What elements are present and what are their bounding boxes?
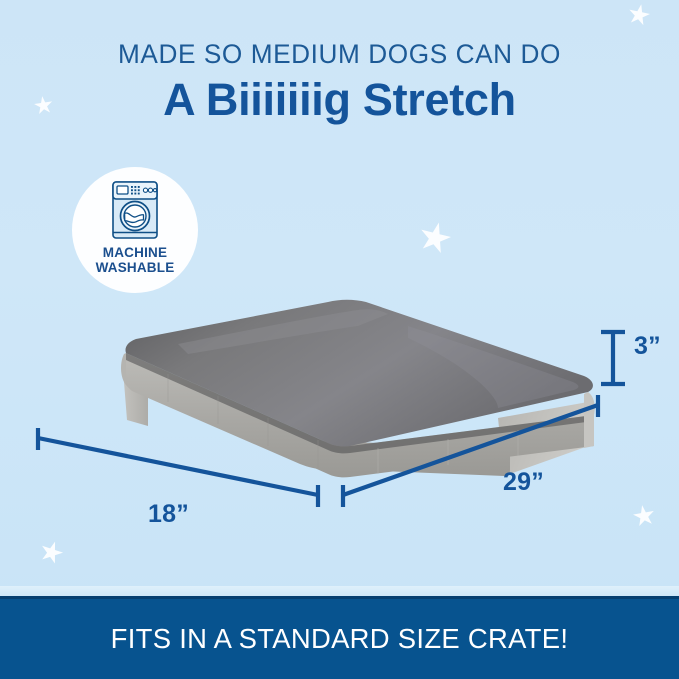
pet-bed-drawing xyxy=(28,296,628,566)
pet-bed-mattress xyxy=(28,296,628,566)
badge-label: MACHINE WASHABLE xyxy=(96,245,175,275)
bottom-banner: FITS IN A STANDARD SIZE CRATE! xyxy=(0,596,679,679)
badge-label-line1: MACHINE xyxy=(96,245,175,260)
headline-block: MADE SO MEDIUM DOGS CAN DO A Biiiiiiig S… xyxy=(0,40,679,125)
page-title: A Biiiiiiig Stretch xyxy=(0,76,679,125)
product-infographic: MADE SO MEDIUM DOGS CAN DO A Biiiiiiig S… xyxy=(0,0,679,679)
washing-machine-icon xyxy=(109,180,161,240)
kicker-text: MADE SO MEDIUM DOGS CAN DO xyxy=(10,40,669,68)
dimension-label-depth: 29” xyxy=(503,468,544,497)
dimension-label-height: 3” xyxy=(634,332,661,361)
machine-washable-badge: MACHINE WASHABLE xyxy=(72,167,198,293)
banner-lip xyxy=(0,586,679,596)
badge-label-line2: WASHABLE xyxy=(96,260,175,275)
banner-text: FITS IN A STANDARD SIZE CRATE! xyxy=(111,623,569,655)
dimension-label-width: 18” xyxy=(148,500,189,529)
